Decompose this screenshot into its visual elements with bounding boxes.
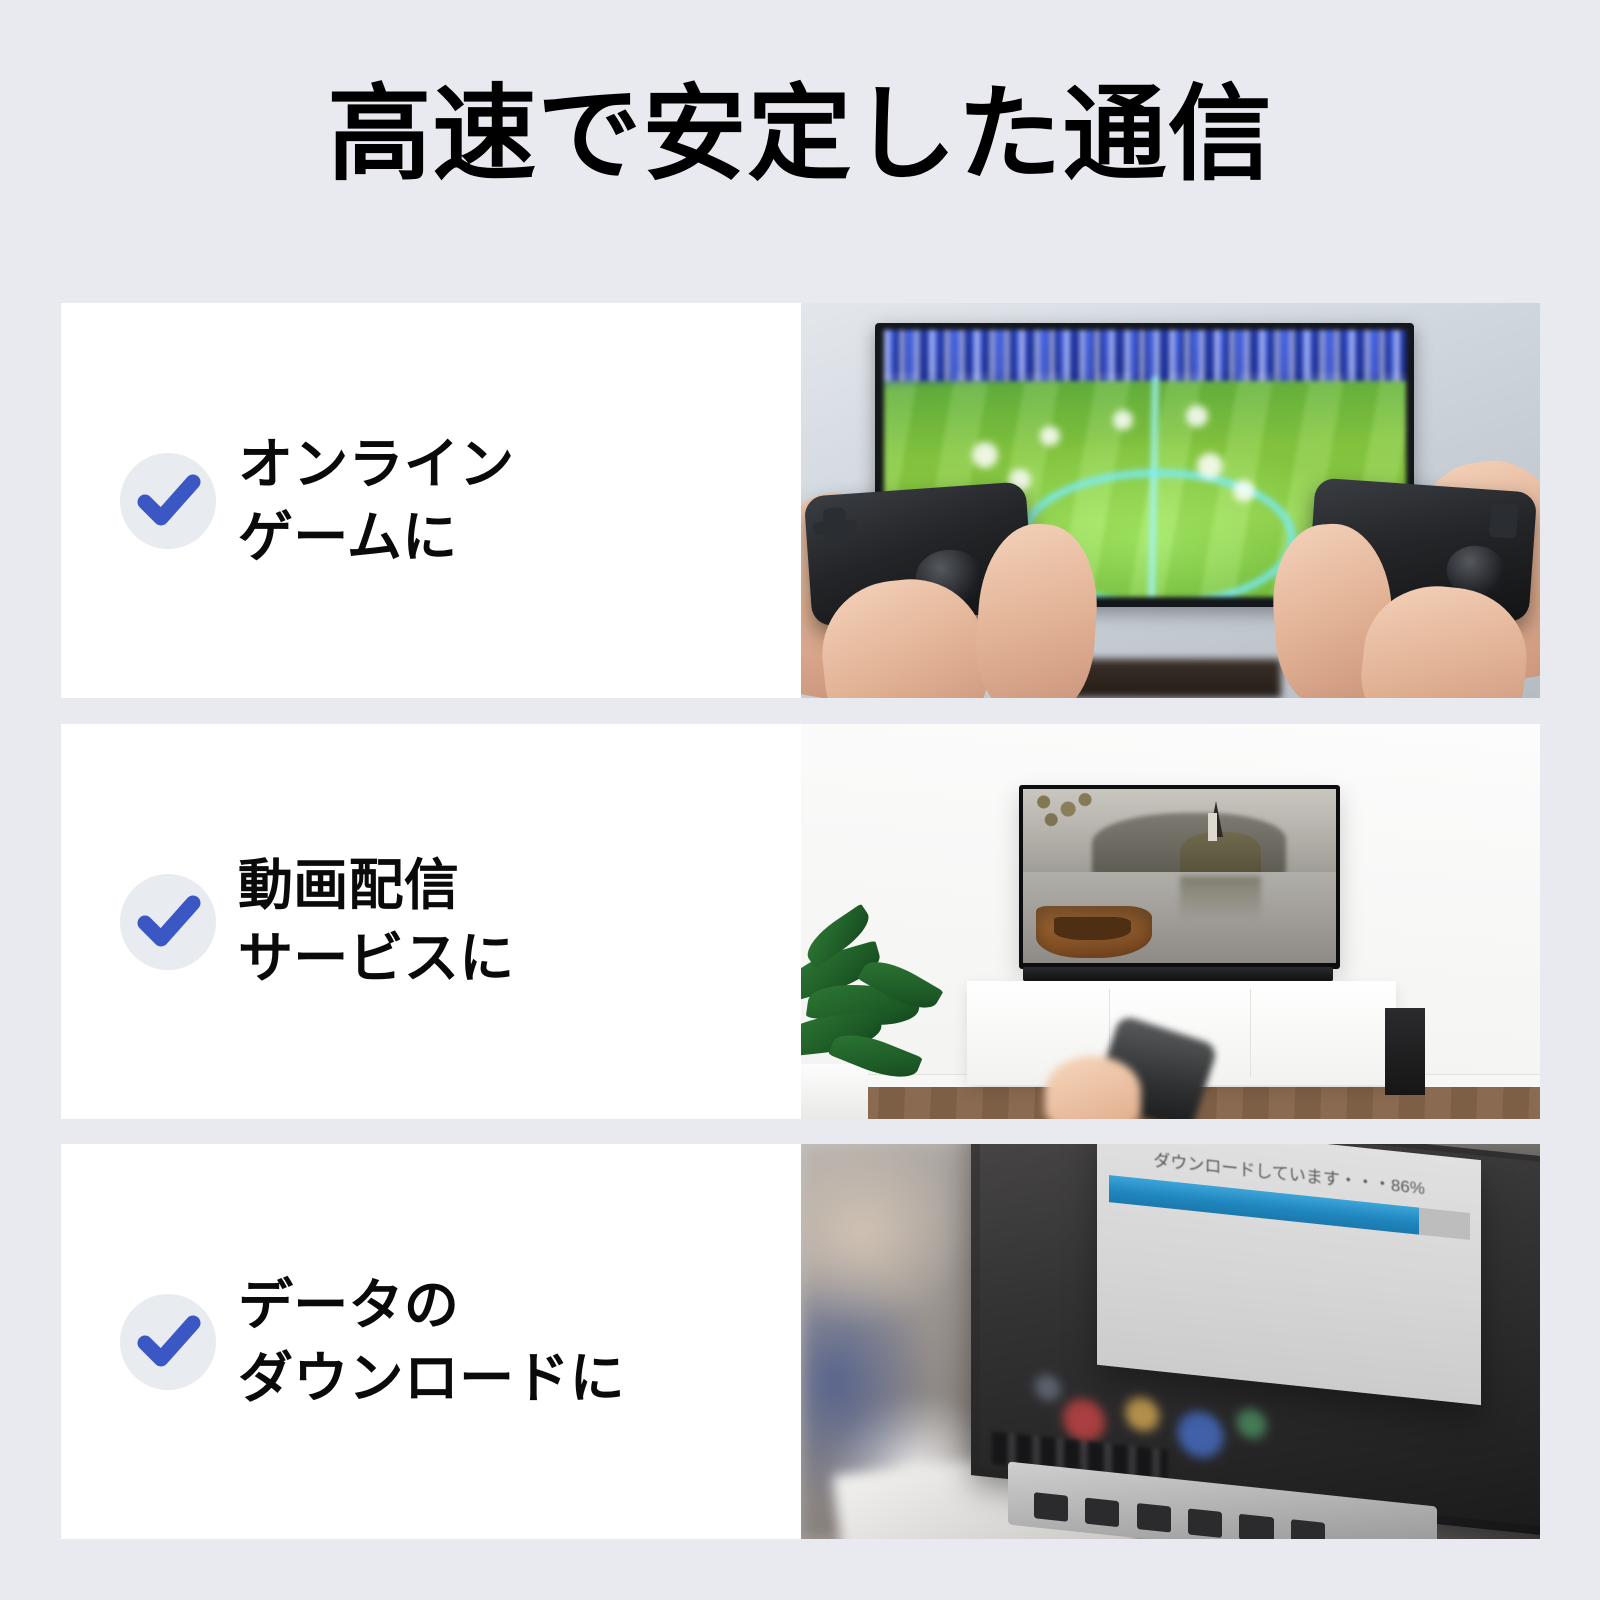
feature-label-line1: データの — [238, 1269, 625, 1342]
cabinet-door-seam — [1250, 989, 1251, 1077]
feature-card-text: オンライン ゲームに — [61, 303, 801, 698]
plant-pot — [801, 1064, 868, 1119]
hand-holding-remote — [1045, 1056, 1141, 1119]
scene-church-tower — [1208, 813, 1217, 841]
keyboard-key — [1034, 1492, 1068, 1522]
controller-dpad — [813, 519, 858, 535]
scene-tree-branch — [1023, 789, 1117, 848]
television-picture-lake-scene — [1023, 789, 1336, 964]
scene-water-reflection — [1180, 876, 1261, 921]
download-dialog: ダウンロードしています・・・86% — [1097, 1144, 1481, 1405]
video-streaming-tv-photo — [801, 724, 1540, 1119]
feature-label-line1: オンライン — [238, 428, 514, 501]
keyboard-key — [1291, 1519, 1325, 1539]
television-frame — [1019, 785, 1340, 969]
controller-buttons — [1489, 502, 1518, 538]
feature-label-line2: ゲームに — [238, 501, 514, 574]
promo-page: 高速で安定した通信 オンライン ゲームに — [0, 0, 1600, 1600]
feature-label-line2: サービスに — [238, 922, 514, 995]
player-blob — [1197, 453, 1223, 479]
feature-card-video-streaming: 動画配信 サービスに — [61, 724, 1540, 1119]
page-title: 高速で安定した通信 — [0, 78, 1600, 192]
feature-card-text: データの ダウンロードに — [61, 1144, 801, 1539]
online-gaming-photo — [801, 303, 1540, 698]
tv-stand-blur — [1060, 659, 1282, 699]
floor-speaker — [1385, 1008, 1426, 1095]
feature-label: オンライン ゲームに — [238, 428, 514, 573]
feature-label: データの ダウンロードに — [238, 1269, 625, 1414]
scene-wooden-boat — [1036, 906, 1152, 958]
feature-label: 動画配信 サービスに — [238, 849, 514, 994]
check-circle-icon — [120, 1294, 216, 1390]
feature-label-line2: ダウンロードに — [238, 1342, 625, 1415]
scene-boat-interior — [1054, 917, 1130, 940]
check-mark-icon — [120, 453, 216, 549]
check-circle-icon — [120, 453, 216, 549]
feature-card-text: 動画配信 サービスに — [61, 724, 801, 1119]
keyboard-key — [1136, 1503, 1170, 1533]
check-mark-icon — [120, 874, 216, 970]
keyboard-key — [1239, 1513, 1273, 1539]
scene-island — [1180, 832, 1261, 876]
check-mark-icon — [120, 1294, 216, 1390]
keyboard-key — [1085, 1497, 1119, 1527]
soundbar — [1023, 967, 1333, 981]
feature-card-data-download: データの ダウンロードに ダウンロードしています・・・86% — [61, 1144, 1540, 1539]
feature-label-line1: 動画配信 — [238, 849, 514, 922]
keyboard-key — [1188, 1508, 1222, 1538]
feature-card-online-gaming: オンライン ゲームに — [61, 303, 1540, 698]
laptop-download-photo: ダウンロードしています・・・86% — [801, 1144, 1540, 1539]
check-circle-icon — [120, 874, 216, 970]
